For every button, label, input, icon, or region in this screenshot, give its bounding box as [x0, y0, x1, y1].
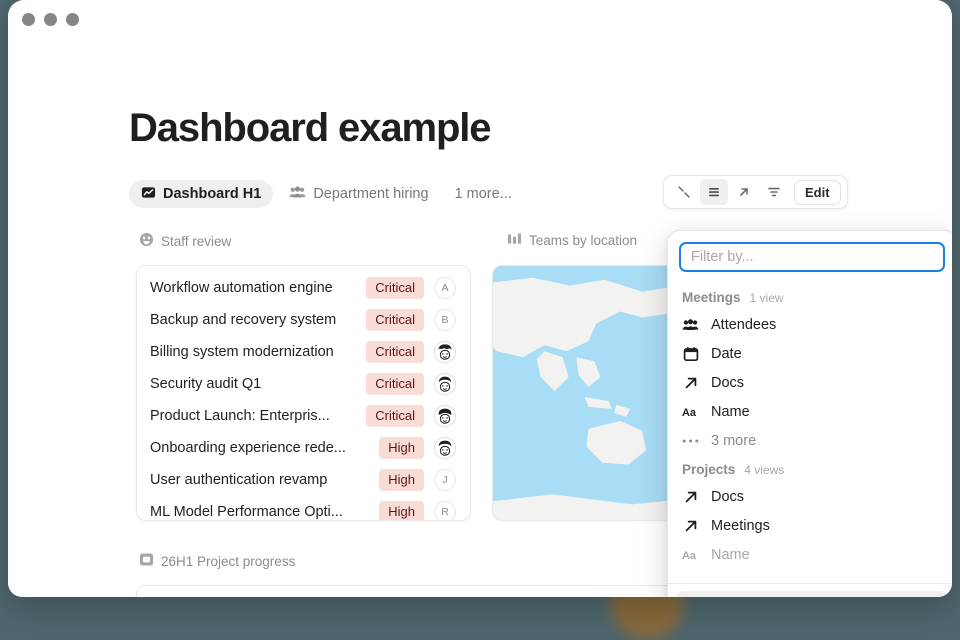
filter-group-title: Meetings: [682, 290, 741, 305]
task-row[interactable]: ML Model Performance Opti...HighR: [137, 496, 470, 521]
annotation-arrow-icon: [619, 593, 677, 597]
priority-badge: Critical: [366, 405, 424, 427]
filter-item-docs[interactable]: Docs: [668, 482, 952, 511]
task-name: Onboarding experience rede...: [150, 440, 379, 456]
app-window: Dashboard example Dashboard H1 Departmen…: [8, 0, 952, 597]
view-toolbar: Edit: [663, 175, 848, 209]
task-list: Workflow automation engineCriticalABacku…: [137, 266, 470, 521]
edit-button-label: Edit: [805, 185, 830, 200]
avatar[interactable]: [434, 373, 456, 395]
people-icon: [289, 185, 306, 204]
priority-badge: Critical: [366, 277, 424, 299]
source-tab-department-hiring[interactable]: Department hiring: [277, 180, 440, 208]
task-row[interactable]: Workflow automation engineCriticalA: [137, 272, 470, 304]
filter-panel-footer: Filter multiple sources: [668, 583, 952, 597]
page-content: Dashboard example Dashboard H1 Departmen…: [8, 40, 952, 597]
task-name: Workflow automation engine: [150, 280, 366, 296]
people-icon: [682, 318, 699, 332]
window-minimize-button[interactable]: [44, 13, 57, 26]
source-tabs-more[interactable]: 1 more...: [455, 186, 512, 202]
filter-item-attendees[interactable]: Attendees: [668, 310, 952, 339]
window-maximize-button[interactable]: [66, 13, 79, 26]
filter-item-name[interactable]: AaName: [668, 540, 952, 569]
block-header-project-progress: 26H1 Project progress: [139, 552, 295, 570]
arrow-up-right-icon: [682, 518, 699, 534]
arrow-up-right-icon: [682, 375, 699, 391]
priority-badge: High: [379, 501, 424, 521]
filter-item-label: Name: [711, 404, 750, 420]
priority-badge: Critical: [366, 309, 424, 331]
staff-review-card: Workflow automation engineCriticalABacku…: [136, 265, 471, 521]
filter-item-meetings[interactable]: Meetings: [668, 511, 952, 540]
source-tab-label: Department hiring: [313, 186, 428, 202]
block-header-label: Staff review: [161, 234, 231, 249]
task-name: Billing system modernization: [150, 344, 366, 360]
filter-group-header: Projects4 views: [668, 455, 952, 482]
task-name: Backup and recovery system: [150, 312, 366, 328]
filter-item-docs[interactable]: Docs: [668, 368, 952, 397]
task-row[interactable]: Billing system modernizationCritical: [137, 336, 470, 368]
task-row[interactable]: Product Launch: Enterpris...Critical: [137, 400, 470, 432]
svg-text:Aa: Aa: [682, 550, 697, 562]
avatar[interactable]: J: [434, 469, 456, 491]
avatar[interactable]: [434, 405, 456, 427]
block-header-staff-review: Staff review: [139, 232, 231, 250]
filter-group-count: 4 views: [744, 463, 784, 477]
task-row[interactable]: User authentication revampHighJ: [137, 464, 470, 496]
filter-group-title: Projects: [682, 462, 735, 477]
window-close-button[interactable]: [22, 13, 35, 26]
filter-item-label: Name: [711, 547, 750, 563]
source-tab-label: Dashboard H1: [163, 186, 261, 202]
avatar[interactable]: A: [434, 277, 456, 299]
priority-badge: High: [379, 469, 424, 491]
block-header-teams-by-location: Teams by location: [507, 232, 637, 249]
square-block-icon: [139, 552, 154, 570]
avatar[interactable]: [434, 341, 456, 363]
filter-item-date[interactable]: Date: [668, 339, 952, 368]
filter-item-label: Docs: [711, 375, 744, 391]
task-row[interactable]: Backup and recovery systemCriticalB: [137, 304, 470, 336]
filter-group-count: 1 view: [750, 291, 784, 305]
filter-item-label: Docs: [711, 489, 744, 505]
avatar[interactable]: [434, 437, 456, 459]
filter-multiple-sources-button[interactable]: Filter multiple sources: [676, 591, 948, 597]
priority-badge: Critical: [366, 373, 424, 395]
priority-badge: High: [379, 437, 424, 459]
filter-groups: Meetings1 viewAttendeesDateDocsAaName3 m…: [668, 276, 952, 583]
block-header-label: Teams by location: [529, 233, 637, 248]
source-tabs: Dashboard H1 Department hiring 1 more...: [129, 180, 512, 208]
task-row[interactable]: Security audit Q1Critical: [137, 368, 470, 400]
task-name: Product Launch: Enterpris...: [150, 408, 366, 424]
task-name: ML Model Performance Opti...: [150, 504, 379, 520]
priority-badge: Critical: [366, 341, 424, 363]
filter-item-3-more[interactable]: 3 more: [668, 426, 952, 455]
arrow-up-right-icon[interactable]: [730, 179, 758, 205]
filter-item-name[interactable]: AaName: [668, 397, 952, 426]
text-aa-icon: Aa: [682, 405, 699, 419]
list-view-icon[interactable]: [700, 179, 728, 205]
page-title: Dashboard example: [129, 108, 490, 148]
filter-icon[interactable]: [760, 179, 788, 205]
source-tab-dashboard-h1[interactable]: Dashboard H1: [129, 180, 273, 208]
bar-chart-icon: [507, 232, 522, 249]
filter-item-label: 3 more: [711, 433, 756, 449]
avatar[interactable]: B: [434, 309, 456, 331]
window-titlebar: [8, 0, 952, 40]
filter-search-input[interactable]: [679, 242, 945, 272]
filter-item-label: Meetings: [711, 518, 770, 534]
filter-group-header: Meetings1 view: [668, 283, 952, 310]
line-chart-icon: [141, 185, 156, 204]
edit-button[interactable]: Edit: [794, 180, 841, 205]
filter-search-wrap: [668, 231, 952, 276]
filter-dropdown-panel: Meetings1 viewAttendeesDateDocsAaName3 m…: [667, 230, 952, 597]
task-name: User authentication revamp: [150, 472, 379, 488]
block-header-label: 26H1 Project progress: [161, 554, 295, 569]
filter-item-label: Attendees: [711, 317, 776, 333]
task-name: Security audit Q1: [150, 376, 366, 392]
calendar-icon: [682, 346, 699, 362]
collapse-icon[interactable]: [670, 179, 698, 205]
task-row[interactable]: Onboarding experience rede...High: [137, 432, 470, 464]
ellipsis-icon: [682, 438, 699, 444]
avatar[interactable]: R: [434, 501, 456, 521]
svg-text:Aa: Aa: [682, 407, 697, 419]
filter-item-label: Date: [711, 346, 742, 362]
text-aa-icon: Aa: [682, 548, 699, 562]
smiley-face-icon: [139, 232, 154, 250]
arrow-up-right-icon: [682, 489, 699, 505]
gear-icon: [686, 597, 702, 598]
